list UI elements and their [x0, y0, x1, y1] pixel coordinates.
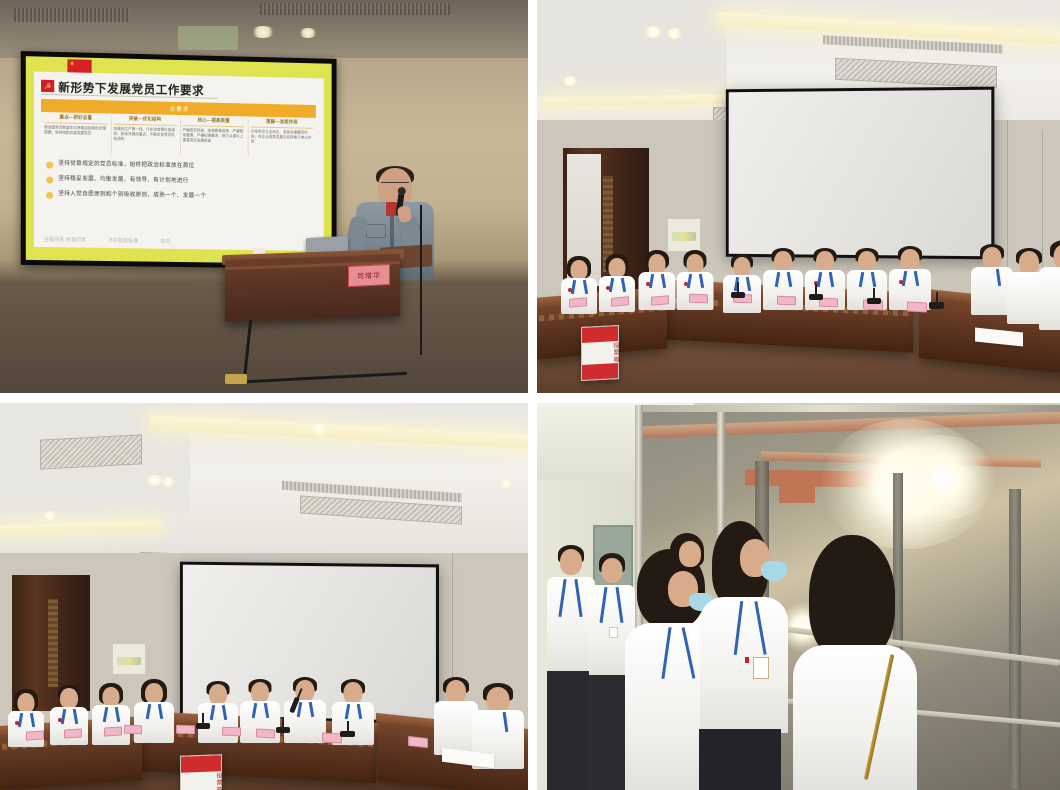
microphone-pod	[809, 294, 823, 300]
trousers	[699, 729, 781, 790]
desk-nameplate	[569, 297, 587, 308]
party-pin	[58, 718, 62, 722]
structural-column	[1009, 489, 1021, 789]
party-pin	[15, 721, 19, 725]
observer-back	[791, 535, 919, 790]
torso	[793, 645, 917, 790]
head	[209, 684, 227, 705]
bullet-text: 坚持党章规定的党员标准，始终把政治标准放在首位	[58, 161, 194, 170]
ballot-box-cap-bottom	[582, 364, 618, 380]
slide-column: 落脚—发挥作用 引导党员立足岗位、发挥先锋模范作用，在企业改革发展中发挥骨干带头…	[248, 118, 316, 159]
door-decorative-panel	[48, 599, 58, 687]
downlight	[642, 26, 664, 38]
photo-panel-top-left: ★ ☭ 新形势下发展党员工作要求 总要求 重点—把好总量 使全国	[0, 0, 528, 393]
desk-nameplate	[651, 295, 669, 306]
footer-item: 全程问责 终身问责	[44, 236, 86, 244]
head	[649, 254, 666, 274]
downlight	[308, 423, 330, 435]
downlight	[498, 479, 514, 488]
bullet-dot-icon	[46, 191, 53, 198]
microphone-pod	[276, 727, 290, 733]
party-emblem-icon: ☭	[41, 80, 54, 92]
photo-panel-top-right: 投票箱	[537, 0, 1060, 393]
id-badge	[753, 657, 769, 679]
bullet-text: 坚持稳妥发展、均衡发展、有领导、有计划地进行	[58, 176, 188, 185]
torso	[50, 707, 88, 745]
wall-artwork	[112, 643, 146, 675]
window-frame-top	[641, 405, 1060, 412]
head	[344, 682, 363, 704]
column-body: 使全国党员数量年均净增加控制在合理规模，坚持控制总量发展党员	[44, 125, 107, 137]
head	[734, 257, 751, 277]
head	[983, 247, 1002, 269]
downlight	[561, 76, 579, 86]
ballot-box-label: 投票箱	[582, 342, 618, 365]
attendee	[887, 246, 933, 310]
observer-partial	[665, 533, 721, 643]
head	[446, 680, 466, 703]
floor-cable-1	[243, 320, 252, 380]
head	[18, 693, 35, 713]
bullet-dot-icon	[46, 176, 53, 183]
slide-bullet: 坚持入党自愿原则和个别吸收原则，成熟一个、发展一个	[46, 191, 314, 203]
ballot-box-cap-top	[582, 326, 618, 342]
torso	[561, 278, 597, 314]
podium-nameplate: 司增华	[348, 264, 390, 287]
desk-nameplate	[64, 728, 82, 738]
photo-panel-bottom-right	[537, 403, 1060, 790]
microphone-pod	[340, 731, 355, 737]
ceiling-vent-left	[14, 8, 130, 22]
desk-nameplate	[222, 727, 241, 737]
ac-vent	[40, 434, 142, 469]
party-pin	[606, 286, 610, 290]
wall-artwork	[667, 218, 701, 252]
slide-band-label: 总要求	[170, 104, 190, 112]
bullet-text: 坚持入党自愿原则和个别吸收原则，成熟一个、发展一个	[58, 191, 206, 200]
head	[571, 260, 588, 280]
slide-bullet: 坚持党章规定的党员标准，始终把政治标准放在首位	[46, 160, 314, 173]
head	[609, 258, 626, 278]
desk-nameplate	[256, 729, 275, 739]
party-pin	[568, 288, 572, 292]
slide-column: 核心—提高质量 严格党员标准、加强教育培养、严格程序管理、严格纪律要求，努力从源…	[180, 117, 248, 158]
ballot-box: 投票箱	[180, 754, 222, 790]
column-body: 严格党员标准、加强教育培养、严格程序管理、严格纪律要求，努力从源头上提高党员发展…	[182, 128, 244, 145]
furnace-glow-2	[887, 435, 995, 521]
ceiling-panel	[178, 26, 238, 50]
slide-column: 突破—优化结构 加强对生产第一线、行业协会等社会组织、新经济组织重点、不断优化党…	[111, 115, 180, 156]
footer-item: 不打折扣标准	[108, 237, 138, 244]
column-rule	[114, 123, 177, 125]
screen-surface	[729, 90, 992, 257]
desk-nameplate	[611, 296, 629, 307]
auditorium-scene: ★ ☭ 新形势下发展党员工作要求 总要求 重点—把好总量 使全国	[0, 0, 528, 393]
face-mask	[761, 561, 787, 581]
meeting-room-scene: 投票箱	[537, 0, 1060, 393]
slide-column: 重点—把好总量 使全国党员数量年均净增加控制在合理规模，坚持控制总量发展党员	[41, 114, 110, 156]
head	[251, 682, 269, 703]
shirt-pocket-left	[366, 224, 386, 238]
head	[679, 541, 701, 567]
head	[103, 687, 120, 707]
party-pin	[684, 282, 688, 286]
desk-nameplate	[26, 730, 44, 740]
photo-collage: ★ ☭ 新形势下发展党员工作要求 总要求 重点—把好总量 使全国	[0, 0, 1060, 790]
slide-footer: 全程问责 终身问责 不打折扣标准 动员	[44, 236, 314, 247]
bullet-dot-icon	[46, 161, 53, 168]
torso	[8, 711, 44, 747]
desk-nameplate	[176, 725, 195, 735]
desk-nameplate	[104, 726, 122, 736]
floor-cable-2	[247, 372, 407, 383]
downlight	[160, 477, 176, 487]
floor-plate	[225, 374, 247, 384]
ballot-box: 投票箱	[581, 325, 619, 381]
microphone-pod	[196, 723, 210, 729]
hair	[809, 535, 895, 661]
torso	[599, 276, 635, 312]
torso	[1039, 267, 1060, 330]
column-rule	[251, 126, 313, 128]
party-pin	[646, 282, 650, 286]
ceiling-vent-right	[260, 3, 450, 15]
ceiling-light-2	[298, 28, 318, 38]
crane-hoist	[779, 485, 815, 503]
desk-nameplate	[322, 732, 342, 743]
head	[145, 683, 163, 704]
slide-surface: ★ ☭ 新形势下发展党员工作要求 总要求 重点—把好总量 使全国	[26, 56, 332, 264]
id-badge	[609, 627, 618, 638]
microphone-pod	[731, 292, 745, 298]
projection-screen	[726, 87, 995, 260]
desk-nameplate	[408, 736, 428, 748]
column-body: 加强对生产第一线、行业协会等社会组织、新经济组织重点、不断优化党员队伍结构	[114, 126, 177, 143]
slide-bullets: 坚持党章规定的党员标准，始终把政治标准放在首位 坚持稳妥发展、均衡发展、有领导、…	[46, 160, 314, 210]
head	[901, 249, 920, 271]
head	[602, 558, 623, 583]
footer-item: 动员	[160, 238, 170, 245]
downlight	[42, 511, 58, 520]
slide-columns: 重点—把好总量 使全国党员数量年均净增加控制在合理规模，坚持控制总量发展党员 突…	[41, 114, 316, 160]
column-rule	[44, 122, 107, 124]
head	[1019, 251, 1039, 274]
ballot-box-label: 投票箱	[181, 772, 221, 790]
head	[560, 549, 582, 575]
slide-content: ☭ 新形势下发展党员工作要求 总要求 重点—把好总量 使全国党员数量年均净增加控…	[34, 72, 324, 252]
desk-nameplate	[689, 294, 708, 304]
column-rule	[182, 125, 244, 127]
attendee	[721, 254, 763, 312]
badge-party-emblem	[745, 657, 749, 663]
desk-nameplate	[907, 301, 927, 312]
factory-viewing-scene	[537, 403, 1060, 790]
column-body: 引导党员立足岗位、发挥先锋模范作用，在企业改革发展中发挥骨干带头作用	[251, 129, 313, 146]
desk-nameplate	[777, 296, 796, 306]
column-heading: 落脚—发挥作用	[251, 119, 313, 126]
projection-screen: ★ ☭ 新形势下发展党员工作要求 总要求 重点—把好总量 使全国	[21, 51, 337, 269]
ballot-box-cap-top	[181, 755, 221, 772]
ceiling-light-1	[250, 26, 276, 38]
microphone-pod	[867, 298, 881, 304]
torso	[134, 702, 174, 743]
microphone-pod	[929, 302, 944, 309]
floor-cable-3	[420, 205, 422, 355]
head	[774, 251, 792, 272]
column-heading: 重点—把好总量	[44, 114, 107, 121]
column-heading: 突破—优化结构	[114, 116, 177, 123]
column-heading: 核心—提高质量	[182, 117, 244, 124]
head	[858, 251, 876, 272]
torso	[677, 272, 714, 310]
nameplate-text: 司增华	[357, 270, 381, 281]
slide-bullet: 坚持稳妥发展、均衡发展、有领导、有计划地进行	[46, 176, 314, 188]
attendee-side	[1037, 240, 1060, 330]
downlight	[665, 28, 683, 39]
desk-nameplate	[124, 725, 142, 735]
head	[687, 254, 704, 274]
meeting-room-scene-wide: 投票箱	[0, 403, 528, 790]
head	[60, 688, 78, 709]
photo-panel-bottom-left: 投票箱	[0, 403, 528, 790]
party-pin	[899, 280, 903, 284]
head	[816, 251, 834, 272]
